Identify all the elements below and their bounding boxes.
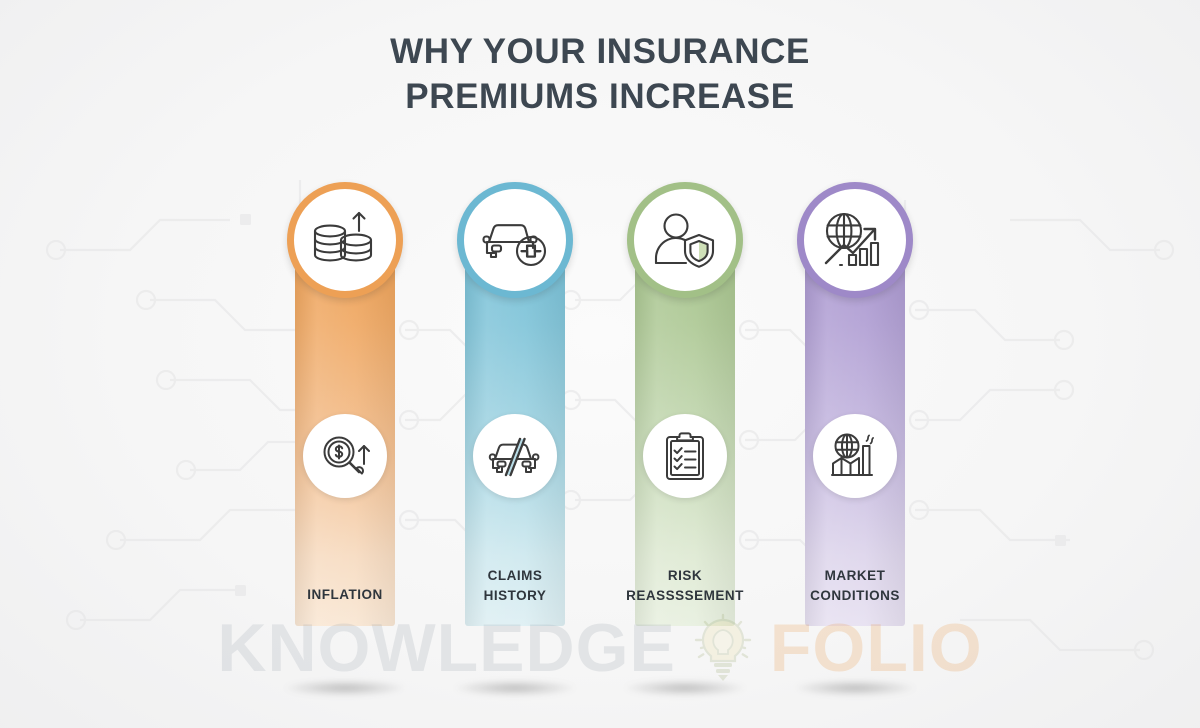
column-shadow-claims-history <box>454 680 576 696</box>
column-label-risk-reassessment-line-1: RISK <box>668 568 702 583</box>
coin-stack-up-arrow-icon <box>312 209 378 271</box>
column-label-market-conditions-line-1: MARKET <box>825 568 886 583</box>
magnifier-dollar-up-arrow-icon <box>320 432 370 480</box>
top-icon-circle-market-conditions[interactable] <box>797 182 913 298</box>
column-label-market-conditions: MARKET CONDITIONS <box>755 566 955 605</box>
mid-icon-circle-claims-history[interactable] <box>473 414 557 498</box>
column-label-claims-history-line-1: CLAIMS <box>488 568 543 583</box>
infographic-canvas: WHY YOUR INSURANCE PREMIUMS INCREASE <box>0 0 1200 728</box>
column-label-risk-reassessment-line-2: REASSSSEMENT <box>626 588 744 603</box>
column-label-inflation-line-1: INFLATION <box>307 587 383 602</box>
globe-factory-icon <box>830 433 880 479</box>
mid-icon-circle-inflation[interactable] <box>303 414 387 498</box>
column-label-claims-history-line-2: HISTORY <box>484 588 547 603</box>
clipboard-checklist-icon <box>663 431 707 481</box>
column-shadow-risk-reassessment <box>624 680 746 696</box>
globe-growth-chart-icon <box>822 211 888 269</box>
column-shadow-market-conditions <box>794 680 916 696</box>
mid-icon-circle-market-conditions[interactable] <box>813 414 897 498</box>
column-label-market-conditions-line-2: CONDITIONS <box>810 588 900 603</box>
top-icon-circle-claims-history[interactable] <box>457 182 573 298</box>
top-icon-circle-inflation[interactable] <box>287 182 403 298</box>
car-medical-cross-icon <box>481 212 549 268</box>
mid-icon-circle-risk-reassessment[interactable] <box>643 414 727 498</box>
top-icon-circle-risk-reassessment[interactable] <box>627 182 743 298</box>
column-shadow-inflation <box>284 680 406 696</box>
car-collision-icon <box>488 435 542 477</box>
person-shield-icon <box>653 211 717 269</box>
